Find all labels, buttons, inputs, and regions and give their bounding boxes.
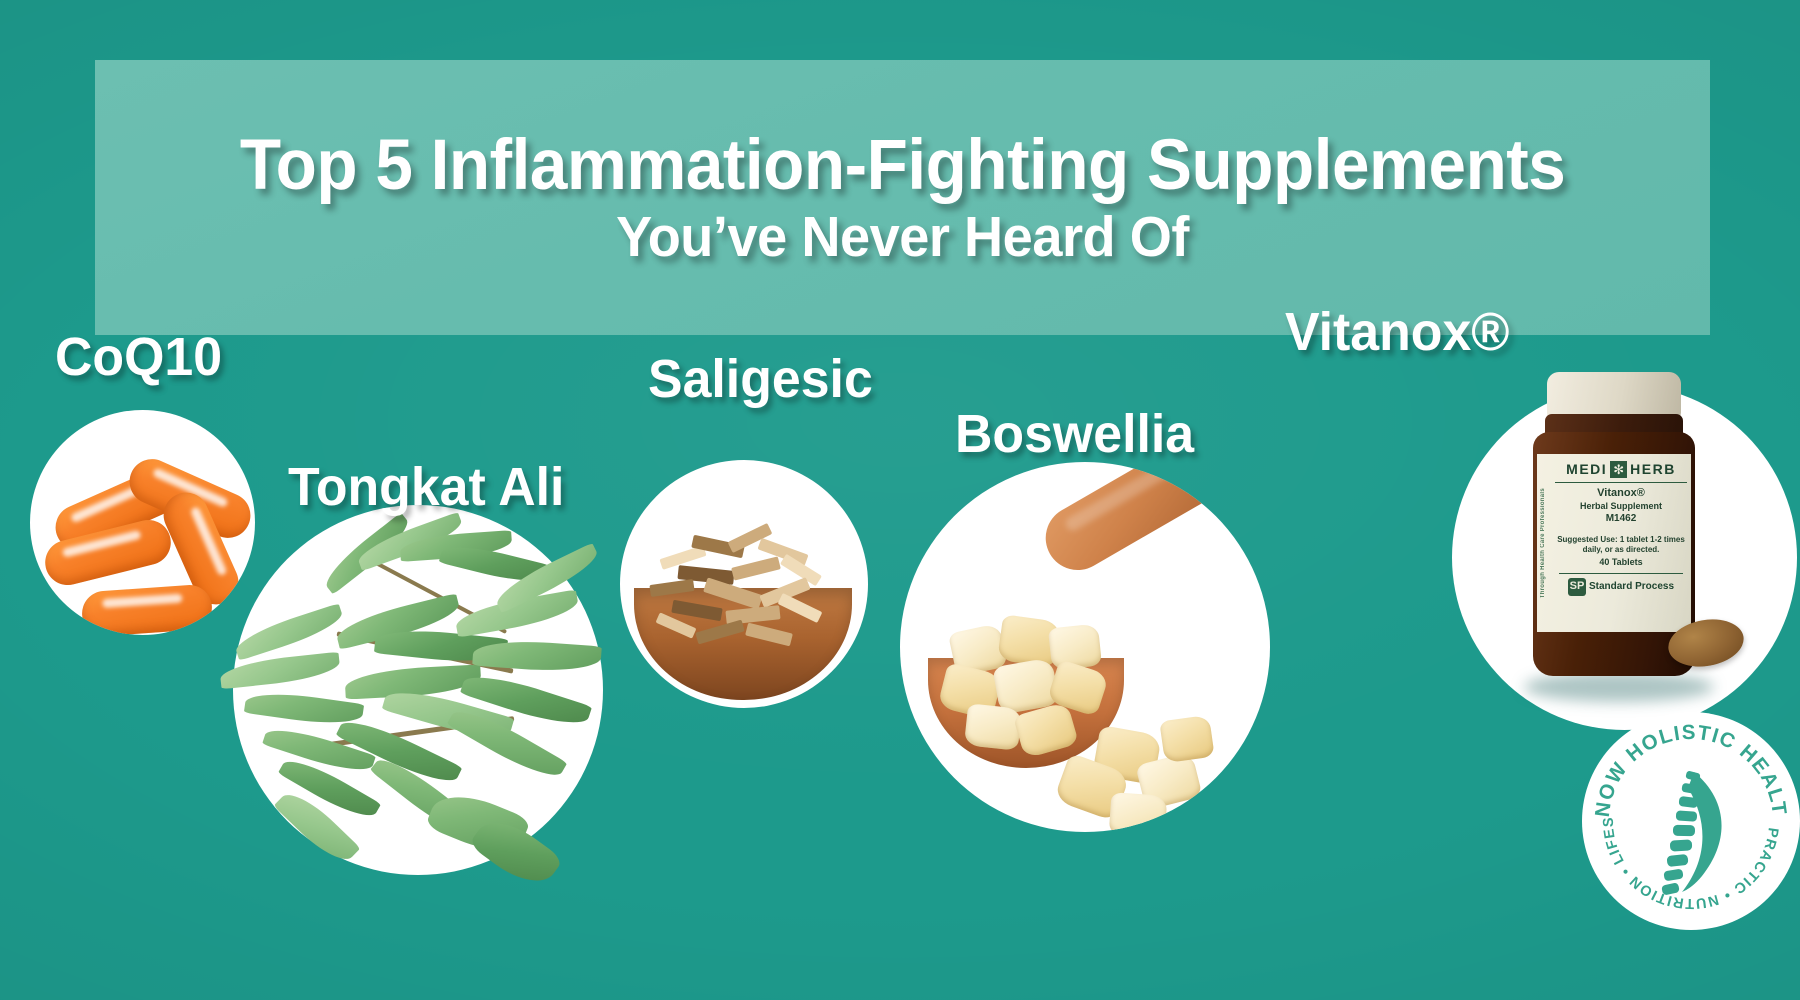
bottle-product-name: Vitanox®	[1555, 487, 1687, 500]
page-title: Top 5 Inflammation-Fighting Supplements	[240, 130, 1565, 201]
standard-process-logo-icon: SP	[1568, 578, 1586, 596]
page-subtitle: You’ve Never Heard Of	[616, 209, 1189, 266]
title-block: Top 5 Inflammation-Fighting Supplements …	[95, 60, 1710, 335]
bottle-label: Through Health Care Professionals MEDI ✻…	[1537, 454, 1691, 632]
item-label-tongkat-ali: Tongkat Ali	[288, 460, 564, 514]
image-circle-saligesic	[620, 460, 868, 708]
bottle-product-code: M1462	[1555, 513, 1687, 525]
wooden-spoon-handle	[1034, 462, 1270, 582]
bottle-product-subtitle: Herbal Supplement	[1555, 501, 1687, 512]
item-label-coq10: CoQ10	[55, 330, 222, 384]
bottle-label-side-text: Through Health Care Professionals	[1540, 488, 1554, 598]
bottle-label-brand-header: MEDI ✻ HERB	[1555, 461, 1687, 483]
capsule-shape	[81, 584, 214, 635]
manufacturer-name: Standard Process	[1589, 581, 1674, 593]
bottle-label-divider	[1559, 573, 1683, 574]
item-label-boswellia: Boswellia	[955, 407, 1194, 461]
image-circle-boswellia	[900, 462, 1270, 832]
flower-icon: ✻	[1610, 461, 1627, 478]
bottle-cap	[1547, 372, 1681, 418]
plant-illustration-tongkat-ali	[215, 500, 635, 890]
snow-holistic-health-logo: SNOW HOLISTIC HEALTH CHIROPRACTIC • NUTR…	[1582, 712, 1800, 930]
item-label-vitanox: Vitanox®	[1285, 305, 1510, 359]
spine-leaf-emblem	[1661, 770, 1721, 895]
brand-name-right: HERB	[1630, 461, 1676, 478]
item-label-saligesic: Saligesic	[648, 352, 873, 406]
bottle-manufacturer: SP Standard Process	[1555, 578, 1687, 596]
brand-name-left: MEDI	[1566, 461, 1607, 478]
bottle-tablet-count: 40 Tablets	[1555, 557, 1687, 568]
bottle-suggested-use: Suggested Use: 1 tablet 1-2 times daily,…	[1555, 535, 1687, 555]
infographic-poster: Top 5 Inflammation-Fighting Supplements …	[0, 0, 1800, 1000]
